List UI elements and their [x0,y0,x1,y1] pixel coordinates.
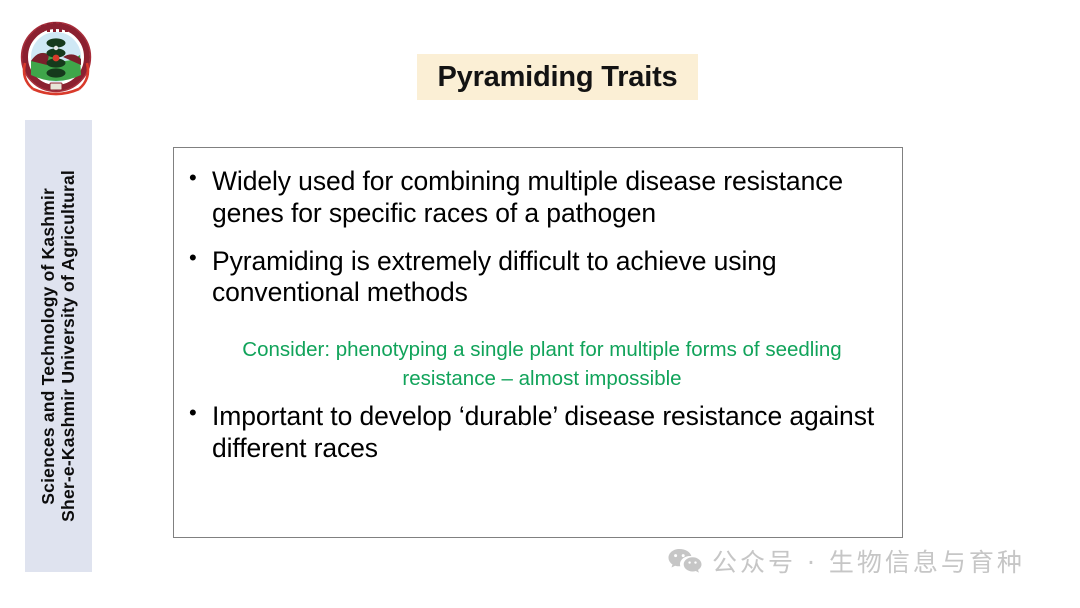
wechat-icon [668,548,702,575]
branding-line-1: Sher-e-Kashmir University of Agricultura… [60,170,78,522]
content-box: Widely used for combining multiple disea… [173,147,903,538]
skuast-university-crest-icon [17,17,95,99]
list-item: Widely used for combining multiple disea… [184,166,886,230]
note-text: Consider: phenotyping a single plant for… [184,335,886,393]
bullet-list-secondary: Important to develop ‘durable’ disease r… [184,401,886,465]
slide-canvas: Sher-e-Kashmir University of Agricultura… [0,0,1080,608]
watermark: 公众号 · 生物信息与育种 [668,543,1025,579]
slide-title-highlight: Pyramiding Traits [417,54,698,100]
page-title: Pyramiding Traits [438,61,678,94]
watermark-label: 公众号 · 生物信息与育种 [712,543,1025,579]
branding-line-2: Sciences and Technology of Kashmir [40,188,58,505]
branding-vertical-text: Sher-e-Kashmir University of Agricultura… [25,120,92,572]
bullet-list: Widely used for combining multiple disea… [184,166,886,309]
list-item: Pyramiding is extremely difficult to ach… [184,246,886,310]
list-item: Important to develop ‘durable’ disease r… [184,401,886,465]
